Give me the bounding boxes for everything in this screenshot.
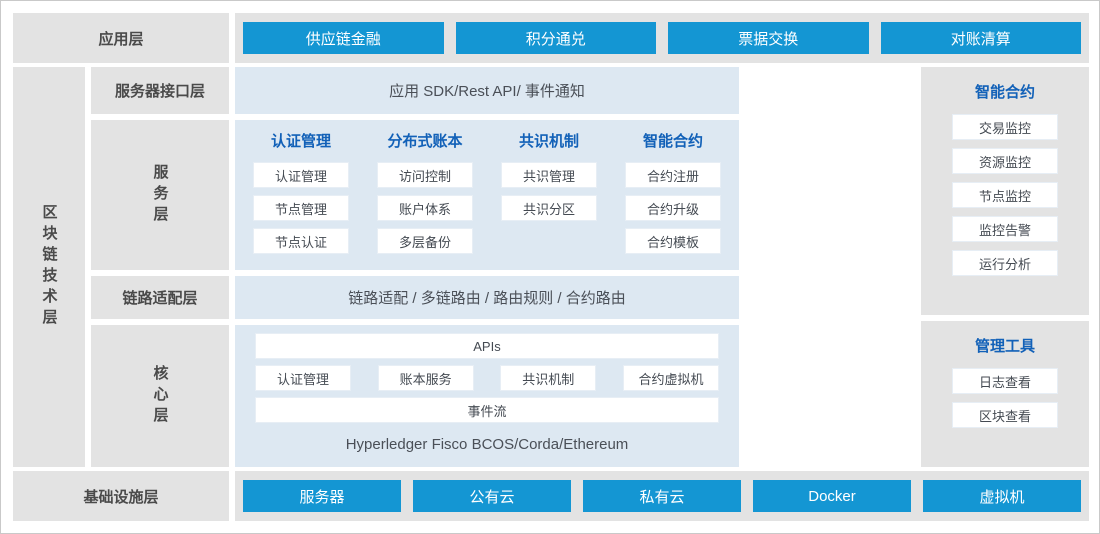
server-interface-layer-content: 应用 SDK/Rest API/ 事件通知: [235, 67, 915, 114]
service-item[interactable]: 共识分区: [501, 195, 597, 221]
app-button-points-exchange[interactable]: 积分通兑: [456, 22, 657, 54]
infra-button-docker[interactable]: Docker: [753, 480, 911, 512]
service-column-auth: 认证管理 认证管理 节点管理 节点认证: [243, 130, 359, 254]
core-module[interactable]: 合约虚拟机: [623, 365, 719, 391]
side-panel-item[interactable]: 区块查看: [952, 402, 1058, 428]
side-panel-item[interactable]: 运行分析: [952, 250, 1058, 276]
side-panel-smart-contract: 智能合约 交易监控 资源监控 节点监控 监控告警 运行分析: [921, 67, 1089, 315]
application-layer-items: 供应链金融 积分通兑 票据交换 对账清算: [235, 13, 1089, 63]
infra-button-virtual-machine[interactable]: 虚拟机: [923, 480, 1081, 512]
core-apis-bar[interactable]: APIs: [255, 333, 719, 359]
service-item[interactable]: 访问控制: [377, 162, 473, 188]
service-item[interactable]: 合约注册: [625, 162, 721, 188]
service-column-title: 智能合约: [643, 130, 703, 151]
server-interface-layer-label: 服务器接口层: [91, 67, 229, 114]
service-column-ledger: 分布式账本 访问控制 账户体系 多层备份: [367, 130, 483, 254]
service-item[interactable]: 共识管理: [501, 162, 597, 188]
blockchain-tech-layer: 区块链技术层 服务器接口层 应用 SDK/Rest API/ 事件通知 服务层: [13, 67, 1089, 467]
service-column-consensus: 共识机制 共识管理 共识分区: [491, 130, 607, 254]
side-panel-management-tools: 管理工具 日志查看 区块查看: [921, 321, 1089, 467]
service-layer-row: 服务层 认证管理 认证管理 节点管理 节点认证 分布式账本 访问控制: [91, 120, 915, 270]
core-layer-content: APIs 认证管理 账本服务 共识机制 合约虚拟机 事件流 Hyperledge…: [235, 325, 915, 467]
service-layer-content: 认证管理 认证管理 节点管理 节点认证 分布式账本 访问控制 账户体系 多层备份: [235, 120, 915, 270]
service-item[interactable]: 账户体系: [377, 195, 473, 221]
service-layer-label: 服务层: [91, 120, 229, 270]
service-column-title: 分布式账本: [387, 130, 462, 151]
tech-layer-stack: 服务器接口层 应用 SDK/Rest API/ 事件通知 服务层 认证管理 认证…: [91, 67, 915, 467]
service-item[interactable]: 多层备份: [377, 228, 473, 254]
link-adapter-layer-label: 链路适配层: [91, 276, 229, 319]
core-event-stream-bar[interactable]: 事件流: [255, 397, 719, 423]
service-layer-label-text: 服务层: [153, 164, 168, 227]
infra-button-public-cloud[interactable]: 公有云: [413, 480, 571, 512]
server-interface-layer-text: 应用 SDK/Rest API/ 事件通知: [235, 67, 739, 114]
service-column-title: 共识机制: [519, 130, 579, 151]
side-panel-item[interactable]: 交易监控: [952, 114, 1058, 140]
service-item[interactable]: 节点管理: [253, 195, 349, 221]
service-column-title: 认证管理: [271, 130, 331, 151]
side-panel-item[interactable]: 节点监控: [952, 182, 1058, 208]
core-layer-row: 核心层 APIs 认证管理 账本服务 共识机制 合约虚拟机 事件流 Hyperl…: [91, 325, 915, 467]
app-button-supply-chain-finance[interactable]: 供应链金融: [243, 22, 444, 54]
core-modules-row: 认证管理 账本服务 共识机制 合约虚拟机: [255, 365, 719, 391]
core-platforms-text: Hyperledger Fisco BCOS/Corda/Ethereum: [255, 429, 719, 459]
infrastructure-layer-row: 基础设施层 服务器 公有云 私有云 Docker 虚拟机: [13, 471, 1089, 521]
service-item[interactable]: 合约模板: [625, 228, 721, 254]
side-panel-title: 智能合约: [975, 81, 1035, 102]
core-module[interactable]: 认证管理: [255, 365, 351, 391]
infrastructure-layer-items: 服务器 公有云 私有云 Docker 虚拟机: [235, 471, 1089, 521]
architecture-diagram: 应用层 供应链金融 积分通兑 票据交换 对账清算 区块链技术层 服务器接口层 应…: [0, 0, 1100, 534]
blockchain-tech-layer-label-text: 区块链技术层: [42, 204, 57, 330]
link-adapter-layer-content: 链路适配 / 多链路由 / 路由规则 / 合约路由: [235, 276, 915, 319]
core-module[interactable]: 共识机制: [500, 365, 596, 391]
side-panel-title: 管理工具: [975, 335, 1035, 356]
side-panel-item[interactable]: 监控告警: [952, 216, 1058, 242]
link-adapter-layer-row: 链路适配层 链路适配 / 多链路由 / 路由规则 / 合约路由: [91, 276, 915, 319]
app-button-reconciliation-settlement[interactable]: 对账清算: [881, 22, 1082, 54]
side-panel-item[interactable]: 日志查看: [952, 368, 1058, 394]
infra-button-private-cloud[interactable]: 私有云: [583, 480, 741, 512]
link-adapter-layer-text: 链路适配 / 多链路由 / 路由规则 / 合约路由: [235, 276, 739, 319]
right-side-panels: 智能合约 交易监控 资源监控 节点监控 监控告警 运行分析 管理工具 日志查看 …: [921, 67, 1089, 467]
service-item[interactable]: 认证管理: [253, 162, 349, 188]
service-column-smart-contract: 智能合约 合约注册 合约升级 合约模板: [615, 130, 731, 254]
core-module[interactable]: 账本服务: [378, 365, 474, 391]
app-button-bill-exchange[interactable]: 票据交换: [668, 22, 869, 54]
application-layer-label: 应用层: [13, 13, 229, 63]
infra-button-server[interactable]: 服务器: [243, 480, 401, 512]
service-item[interactable]: 合约升级: [625, 195, 721, 221]
service-layer-columns: 认证管理 认证管理 节点管理 节点认证 分布式账本 访问控制 账户体系 多层备份: [235, 120, 739, 270]
infrastructure-layer-label: 基础设施层: [13, 471, 229, 521]
application-layer-row: 应用层 供应链金融 积分通兑 票据交换 对账清算: [13, 13, 1089, 63]
side-panel-item[interactable]: 资源监控: [952, 148, 1058, 174]
server-interface-layer-row: 服务器接口层 应用 SDK/Rest API/ 事件通知: [91, 67, 915, 114]
core-layer-panel: APIs 认证管理 账本服务 共识机制 合约虚拟机 事件流 Hyperledge…: [235, 325, 739, 467]
core-layer-label: 核心层: [91, 325, 229, 467]
core-layer-label-text: 核心层: [153, 365, 168, 428]
blockchain-tech-layer-label: 区块链技术层: [13, 67, 85, 467]
service-item[interactable]: 节点认证: [253, 228, 349, 254]
